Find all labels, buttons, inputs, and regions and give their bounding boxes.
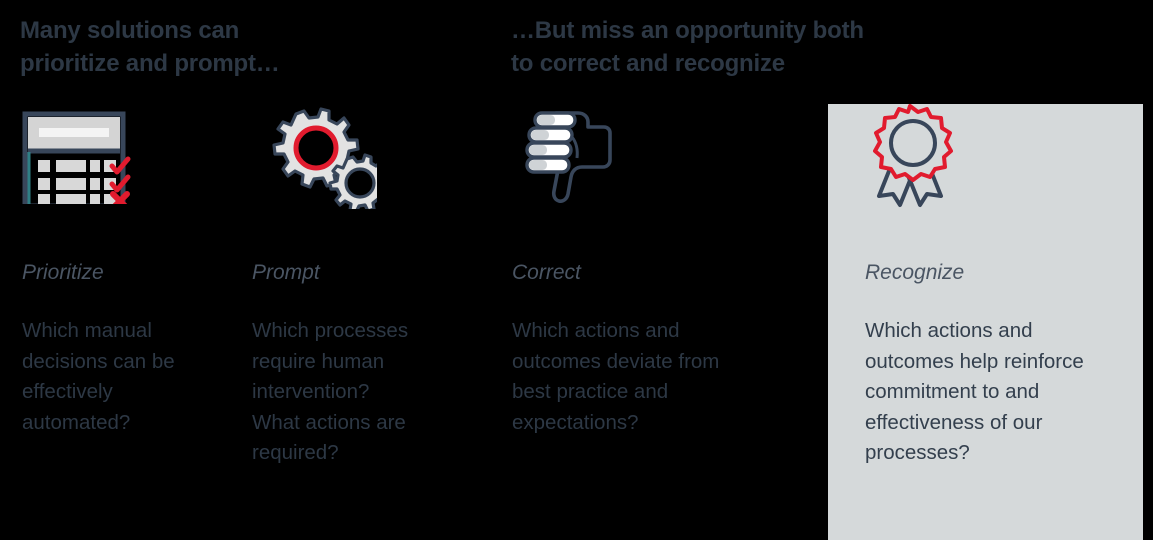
heading-right: …But miss an opportunity both to correct…	[511, 14, 981, 80]
column-body-prioritize: Which manual decisions can be effectivel…	[22, 316, 237, 438]
column-body-recognize: Which actions and outcomes help reinforc…	[865, 316, 1123, 469]
column-prompt: Prompt Which processes require human int…	[252, 104, 477, 469]
column-label-prompt: Prompt	[252, 262, 477, 283]
thumbs-down-icon	[512, 104, 802, 224]
heading-left: Many solutions can prioritize and prompt…	[20, 14, 440, 80]
column-correct: Correct Which actions and outcomes devia…	[512, 104, 802, 438]
column-prioritize: Prioritize Which manual decisions can be…	[22, 104, 237, 438]
column-recognize: Recognize Which actions and outcomes hel…	[865, 104, 1123, 469]
award-ribbon-icon	[865, 104, 1123, 224]
column-label-prioritize: Prioritize	[22, 262, 237, 283]
checklist-icon	[22, 104, 237, 224]
column-body-correct: Which actions and outcomes deviate from …	[512, 316, 802, 438]
column-label-correct: Correct	[512, 262, 802, 283]
column-label-recognize: Recognize	[865, 262, 1123, 283]
gears-icon	[252, 104, 477, 224]
column-body-prompt: Which processes require human interventi…	[252, 316, 477, 469]
